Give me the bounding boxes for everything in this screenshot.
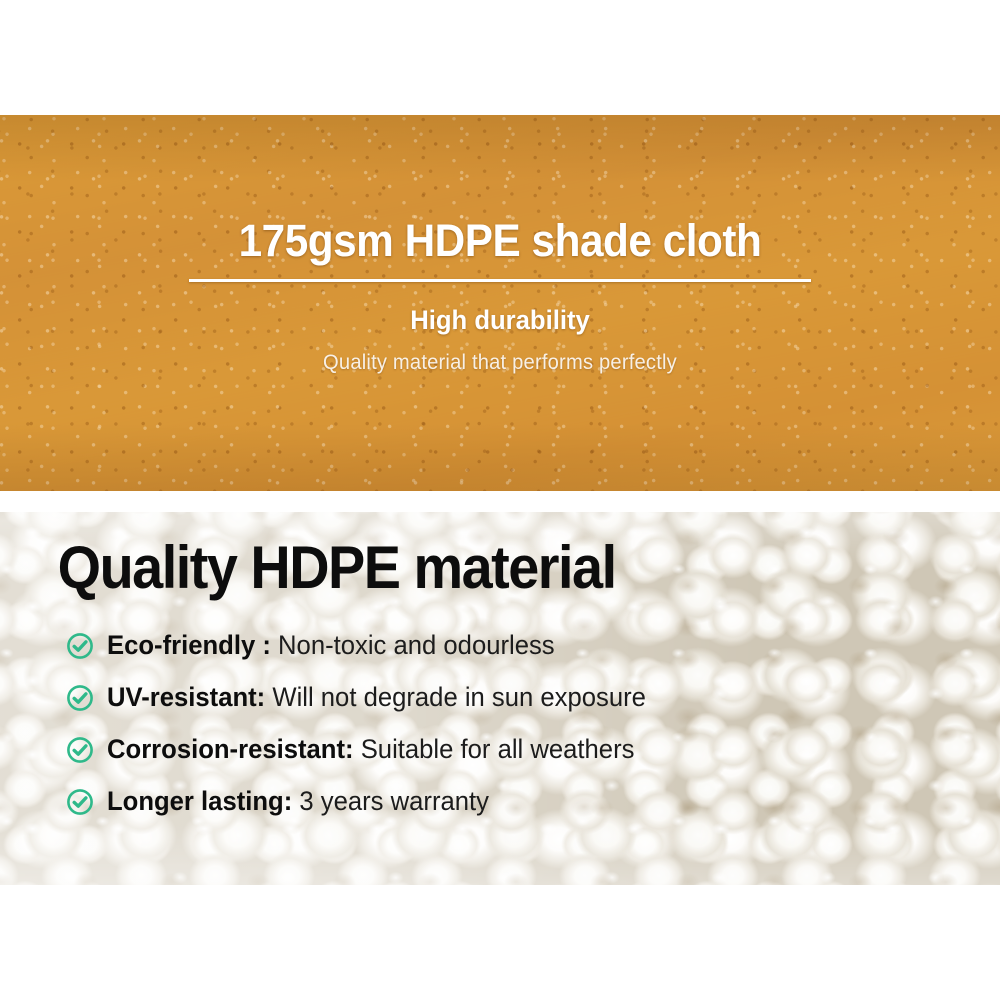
check-circle-icon bbox=[66, 788, 94, 816]
feature-description: Will not degrade in sun exposure bbox=[272, 682, 646, 712]
check-circle-icon bbox=[66, 736, 94, 764]
feature-text: Longer lasting: 3 years warranty bbox=[107, 787, 489, 817]
feature-description: 3 years warranty bbox=[299, 786, 489, 816]
product-feature-image: 175gsm HDPE shade cloth High durability … bbox=[0, 0, 1000, 1000]
shade-cloth-title: 175gsm HDPE shade cloth bbox=[30, 115, 970, 264]
list-item: UV-resistant: Will not degrade in sun ex… bbox=[66, 672, 1000, 724]
feature-list: Eco-friendly : Non-toxic and odourless U… bbox=[0, 598, 1000, 828]
hdpe-material-panel: Quality HDPE material Eco-friendly : Non… bbox=[0, 512, 1000, 885]
feature-text: Eco-friendly : Non-toxic and odourless bbox=[107, 631, 555, 661]
shade-cloth-subtitle: High durability bbox=[25, 282, 975, 336]
material-title: Quality HDPE material bbox=[0, 512, 930, 598]
shade-cloth-panel: 175gsm HDPE shade cloth High durability … bbox=[0, 115, 1000, 491]
shade-cloth-copy: 175gsm HDPE shade cloth High durability … bbox=[0, 115, 1000, 375]
feature-label: Eco-friendly : bbox=[107, 630, 278, 660]
feature-description: Suitable for all weathers bbox=[361, 734, 635, 764]
feature-label: Corrosion-resistant: bbox=[107, 734, 361, 764]
list-item: Eco-friendly : Non-toxic and odourless bbox=[66, 620, 1000, 672]
list-item: Corrosion-resistant: Suitable for all we… bbox=[66, 724, 1000, 776]
hdpe-material-copy: Quality HDPE material Eco-friendly : Non… bbox=[0, 512, 1000, 885]
feature-description: Non-toxic and odourless bbox=[278, 630, 555, 660]
list-item: Longer lasting: 3 years warranty bbox=[66, 776, 1000, 828]
shade-cloth-tagline: Quality material that performs perfectly bbox=[20, 336, 980, 375]
feature-label: UV-resistant: bbox=[107, 682, 272, 712]
feature-text: UV-resistant: Will not degrade in sun ex… bbox=[107, 683, 646, 713]
feature-text: Corrosion-resistant: Suitable for all we… bbox=[107, 735, 634, 765]
check-circle-icon bbox=[66, 684, 94, 712]
feature-label: Longer lasting: bbox=[107, 786, 299, 816]
check-circle-icon bbox=[66, 632, 94, 660]
